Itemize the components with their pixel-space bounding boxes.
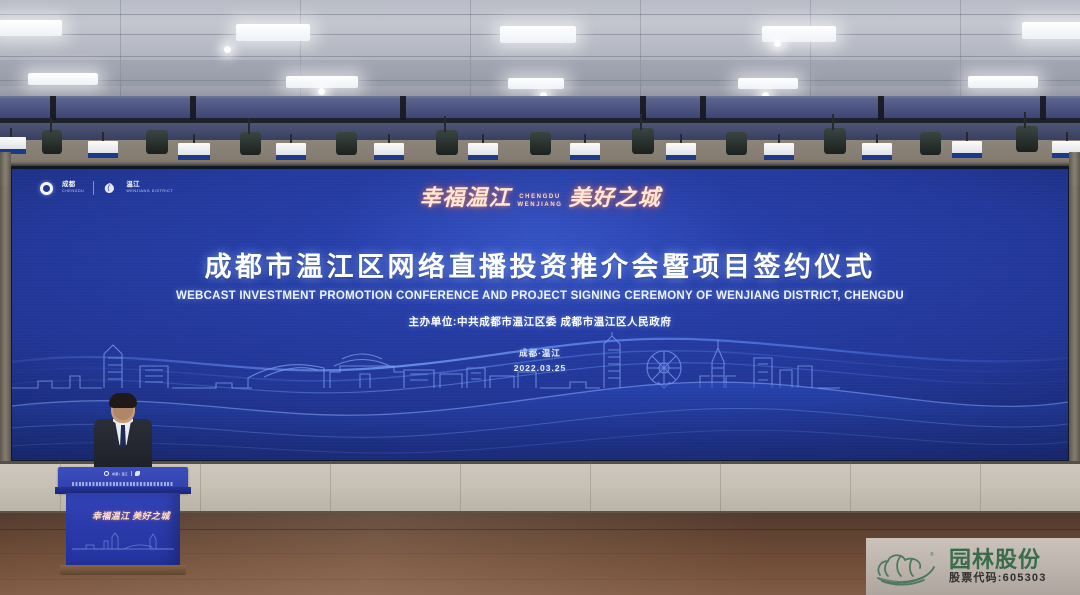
stage-par-light [920, 132, 941, 155]
watermark-stock-code: 股票代码:605303 [949, 572, 1074, 585]
stage-light-fixture [952, 132, 982, 160]
stage-par-light [336, 132, 357, 155]
ceiling-panel-light [0, 20, 62, 36]
ceiling-spot-light [224, 46, 231, 53]
broadcast-watermark: ® 园林股份 股票代码:605303 [866, 538, 1080, 595]
ceiling-panel-light [738, 78, 798, 89]
stage-light-arm [832, 114, 834, 130]
speaker-person [94, 395, 152, 471]
ceiling-panel-light [236, 24, 310, 41]
conference-stage-photo: 成都 CHENGDU 温江 WENJIANG DISTRICT [0, 0, 1080, 595]
speaker-hair [109, 393, 137, 408]
stage-light-fixture [764, 134, 794, 162]
hall-ceiling [0, 0, 1080, 104]
podium-logo-row: 成都 | 温江 [104, 471, 140, 476]
stage-light-fixture [862, 134, 892, 162]
stage-light-arm [1024, 112, 1026, 128]
stage-light-arm [640, 114, 642, 130]
podium-front-panel: 幸福温江 美好之城 [66, 493, 180, 567]
ceiling-panel-light [28, 73, 98, 85]
watermark-company-name: 园林股份 [949, 548, 1074, 572]
ceiling-panel-light [286, 76, 358, 88]
ceiling-panel-light [1022, 22, 1080, 39]
stage-par-light [726, 132, 747, 155]
ceiling-panel-light [500, 26, 576, 43]
stage-par-light [42, 130, 62, 154]
stage-light-fixture [570, 134, 600, 162]
stage-light-fixture [276, 134, 306, 162]
stage-par-light [240, 132, 261, 155]
stage-light-fixture [178, 134, 210, 162]
ceiling-panel-light [968, 76, 1038, 88]
watermark-text-block: 园林股份 股票代码:605303 [949, 548, 1074, 585]
ceiling-spot-light [318, 88, 325, 95]
podium-skyline-graphic [72, 529, 174, 551]
podium-logo-label: 成都 | 温江 [112, 472, 128, 476]
left-wall-pillar [0, 152, 11, 463]
podium-brand-text: 幸福温江 美好之城 [92, 511, 154, 521]
stage-par-light [632, 128, 654, 154]
stage-light-arm [444, 116, 446, 132]
right-wall-pillar [1069, 152, 1080, 463]
stage-par-light [530, 132, 551, 155]
podium-nameplate-text [72, 482, 174, 486]
podium-brandmark: 幸福温江 美好之城 [92, 511, 154, 525]
stage-par-light [436, 130, 458, 155]
stage-light-fixture [88, 132, 118, 160]
stage-par-light [1016, 126, 1038, 152]
podium-leaf-icon [135, 471, 140, 476]
stage-light-arm [50, 118, 52, 132]
trademark-symbol: ® [930, 551, 934, 558]
podium-and-speaker: 成都 | 温江 幸福温江 美好之城 [58, 395, 188, 575]
podium-logo-divider [131, 471, 132, 476]
stage-par-light [824, 128, 846, 154]
podium-chengdu-circle-icon [104, 471, 109, 476]
stage-par-light [146, 130, 168, 154]
podium-base [60, 565, 186, 575]
ceiling-panel-light [508, 78, 564, 89]
stage-light-fixture [666, 134, 696, 162]
ceiling-spot-light [774, 40, 781, 47]
stage-light-fixture [468, 134, 498, 162]
stage-light-fixture [374, 134, 404, 162]
ceiling-panel-light [762, 26, 836, 42]
garden-landscape-tree-logo-icon: ® [872, 545, 944, 589]
stage-light-arm [248, 118, 250, 134]
